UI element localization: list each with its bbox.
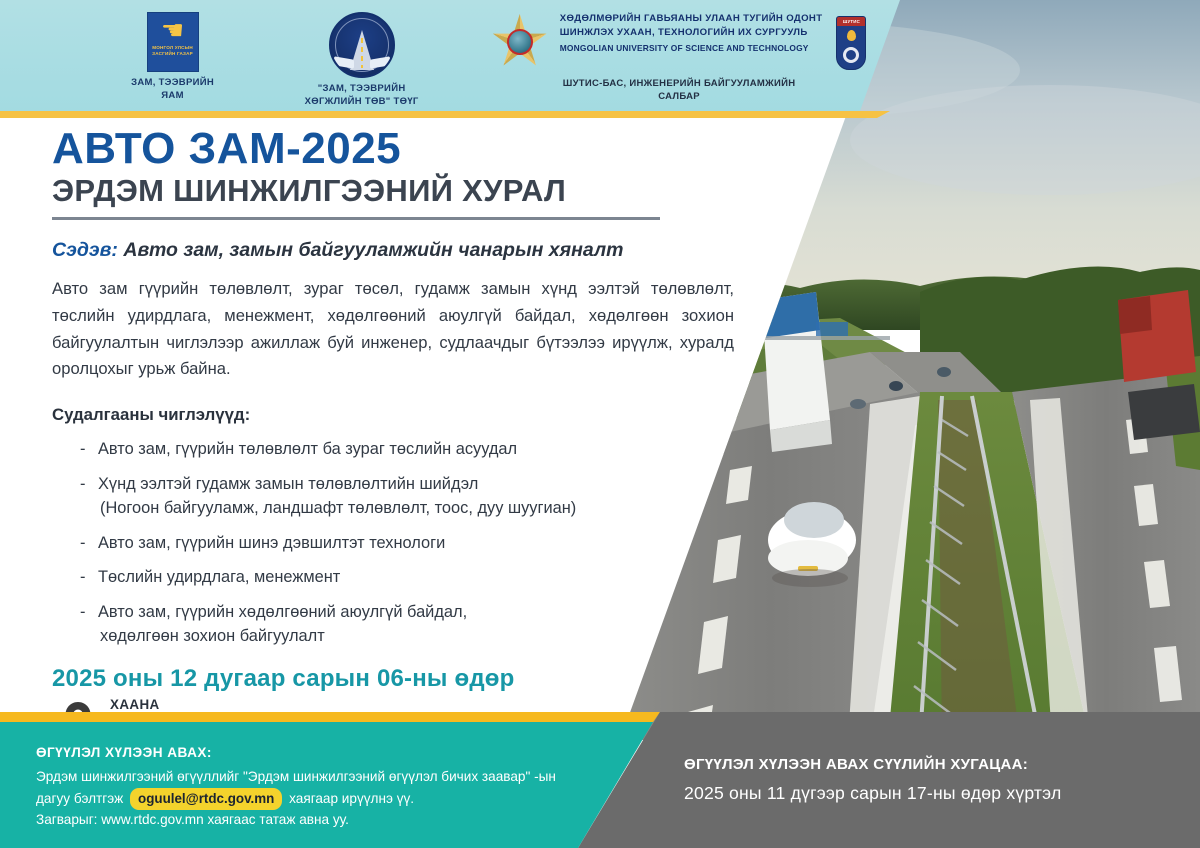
directions-heading: Судалгааны чиглэлүүд: [52,405,752,425]
footer-left-line2-before: дагуу бэлтгэж [36,791,123,806]
must-medal-icon [492,14,548,70]
list-item-text: Авто зам, гүүрийн шинэ дэвшилтэт техноло… [98,534,445,552]
page-title: АВТО ЗАМ-2025 [52,126,752,172]
list-item: - Авто зам, гүүрийн төлөвлөлт ба зураг т… [80,438,752,462]
footer-right-title: ӨГҮҮЛЭЛ ХҮЛЭЭН АВАХ СҮҮЛИЙН ХУГАЦАА: [684,756,1154,773]
list-item-text: Авто зам, гүүрийн хөдөлгөөний аюулгүй ба… [98,603,467,621]
footer-deadline-info: ӨГҮҮЛЭЛ ХҮЛЭЭН АВАХ СҮҮЛИЙН ХУГАЦАА: 202… [684,756,1154,804]
list-item: - Төслийн удирдлага, менежмент [80,566,752,590]
title-divider [52,217,660,220]
list-item-continuation: хөдөлгөөн зохион байгуулалт [98,625,752,649]
footer-left-line2-after: хаягаар ирүүлнэ үү. [289,791,414,806]
header-gold-rule [0,111,890,118]
rtdc-centerline-icon [361,38,363,68]
must-title-line3: MONGOLIAN UNIVERSITY OF SCIENCE AND TECH… [560,43,823,53]
list-item-text: Төслийн удирдлага, менежмент [98,568,340,586]
list-dash: - [80,473,85,497]
logo-caption-rtdc: "ЗАМ, ТЭЭВРИЙН ХӨГЖЛИЙН ТӨВ" ТӨҮГ [305,83,419,109]
truck-dark [1128,384,1200,440]
list-dash: - [80,532,85,556]
must-title-line1: ХӨДӨЛМӨРИЙН ГАВЬЯАНЫ УЛААН ТУГИЙН ОДОНТ [560,12,823,26]
list-item-text: Хүнд ээлтэй гудамж замын төлөвлөлтийн ши… [98,475,478,493]
list-item-continuation: (Ногоон байгууламж, ландшафт төлөвлөлт, … [98,497,752,521]
list-dash: - [80,438,85,462]
must-medal-center-icon [507,29,533,55]
main-content: АВТО ЗАМ-2025 ЭРДЭМ ШИНЖИЛГЭЭНИЙ ХУРАЛ С… [52,126,752,743]
shutis-shield-icon: ШУТИС [836,16,866,70]
footer-left-title: ӨГҮҮЛЭЛ ХҮЛЭЭН АВАХ: [36,745,636,760]
must-title-text: ХӨДӨЛМӨРИЙН ГАВЬЯАНЫ УЛААН ТУГИЙН ОДОНТ … [560,12,823,53]
list-item: - Хүнд ээлтэй гудамж замын төлөвлөлтийн … [80,473,752,521]
conference-poster: ☚ МОНГОЛ УЛСЫН ЗАСГИЙН ГАЗАР ЗАМ, ТЭЭВРИ… [0,0,1200,848]
topic-value: Авто зам, замын байгууламжийн чанарын хя… [123,239,623,261]
shutis-shield-label: ШУТИС [837,17,865,26]
logo-row: ☚ МОНГОЛ УЛСЫН ЗАСГИЙН ГАЗАР ЗАМ, ТЭЭВРИ… [0,0,880,111]
soyombo-glyph-icon: ☚ [161,17,184,43]
topic-label: Сэдэв: [52,239,118,261]
list-item: - Авто зам, гүүрийн хөдөлгөөний аюулгүй … [80,601,752,649]
must-logo-row: ХӨДӨЛМӨРИЙН ГАВЬЯАНЫ УЛААН ТУГИЙН ОДОНТ … [492,12,867,70]
submission-email-link[interactable]: oguulel@rtdc.gov.mn [130,788,282,810]
footer-left-body: Эрдэм шинжилгээний өгүүллийг "Эрдэм шинж… [36,767,636,831]
logo-must: ХӨДӨЛМӨРИЙН ГАВЬЯАНЫ УЛААН ТУГИЙН ОДОНТ … [478,0,880,104]
footer-left-line3: Загварыг: www.rtdc.gov.mn хаягаас татаж … [36,810,636,831]
list-item: - Авто зам, гүүрийн шинэ дэвшилтэт техно… [80,532,752,556]
must-title-line2: ШИНЖЛЭХ УХААН, ТЕХНОЛОГИЙН ИХ СУРГУУЛЬ [560,26,823,40]
list-dash: - [80,566,85,590]
soyombo-emblem-icon: ☚ МОНГОЛ УЛСЫН ЗАСГИЙН ГАЗАР [147,12,199,72]
footer-submission-info: ӨГҮҮЛЭЛ ХҮЛЭЭН АВАХ: Эрдэм шинжилгээний … [36,745,636,831]
list-item-text: Авто зам, гүүрийн төлөвлөлт ба зураг төс… [98,440,517,458]
list-dash: - [80,601,85,625]
logo-caption-ministry: ЗАМ, ТЭЭВРИЙН ЯАМ [131,77,214,103]
rtdc-emblem-icon [329,12,395,78]
topic-line: Сэдэв: Авто зам, замын байгууламжийн чан… [52,238,752,263]
venue-label: ХААНА [110,697,608,712]
directions-list: - Авто зам, гүүрийн төлөвлөлт ба зураг т… [52,438,752,648]
page-subtitle: ЭРДЭМ ШИНЖИЛГЭЭНИЙ ХУРАЛ [52,174,752,209]
shutis-gear-icon [843,47,859,63]
footer-gold-rule [0,712,660,722]
logo-caption-must-department: ШУТИС-БАС, ИНЖЕНЕРИЙН БАЙГУУЛАМЖИЙН САЛБ… [563,78,796,104]
logo-government-of-mongolia: ☚ МОНГОЛ УЛСЫН ЗАСГИЙН ГАЗАР ЗАМ, ТЭЭВРИ… [96,0,249,103]
footer-left-line2: дагуу бэлтгэж oguulel@rtdc.gov.mn хаягаа… [36,788,636,810]
shutis-flame-icon [847,30,856,41]
footer-left-line1: Эрдэм шинжилгээний өгүүллийг "Эрдэм шинж… [36,767,636,788]
logo-road-transport-development-center: "ЗАМ, ТЭЭВРИЙН ХӨГЖЛИЙН ТӨВ" ТӨҮГ [285,0,438,109]
footer-right-date: 2025 оны 11 дүгээр сарын 17-ны өдөр хүрт… [684,783,1154,804]
intro-paragraph: Авто зам гүүрийн төлөвлөлт, зураг төсөл,… [52,276,734,384]
gov-emblem-line2: ЗАСГИЙН ГАЗАР [152,51,193,57]
event-date: 2025 оны 12 дугаар сарын 06-ны өдөр [52,665,752,693]
truck-red [1118,290,1196,382]
